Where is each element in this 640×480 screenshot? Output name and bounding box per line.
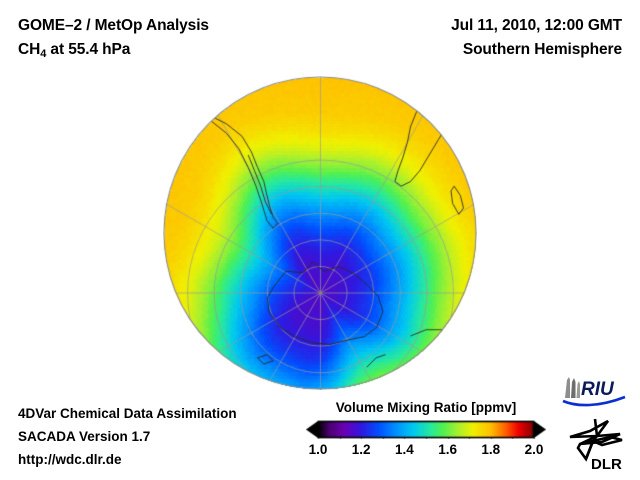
dlr-logo: DLR	[564, 415, 628, 473]
species-suffix: at 55.4 hPa	[46, 41, 130, 58]
footer-left-block: 4DVar Chemical Data Assimilation SACADA …	[18, 402, 237, 471]
colorbar-gradient-row	[306, 420, 546, 439]
colorbar: Volume Mixing Ratio [ppmv] 1.01.21.41.61…	[306, 400, 546, 460]
colorbar-tick-1-2: 1.2	[352, 442, 371, 457]
colorbar-tick-2-0: 2.0	[525, 442, 544, 457]
version-label: SACADA Version 1.7	[18, 425, 237, 448]
instrument-title: GOME–2 / MetOp Analysis	[18, 14, 209, 38]
species-level-title: CH4 at 55.4 hPa	[18, 38, 209, 66]
polar-map-canvas	[163, 76, 477, 390]
riu-logo: RIU	[559, 374, 629, 408]
colorbar-tick-1-8: 1.8	[481, 442, 500, 457]
colorbar-tick-1-0: 1.0	[309, 442, 328, 457]
riu-logo-mark: RIU	[559, 374, 629, 408]
species-prefix: CH	[18, 41, 40, 58]
colorbar-gradient	[306, 420, 546, 439]
dlr-pinwheel-icon	[570, 419, 622, 459]
riu-wordmark: RIU	[581, 379, 615, 400]
website-link[interactable]: http://wdc.dlr.de	[18, 448, 237, 471]
dlr-wordmark: DLR	[591, 456, 622, 473]
method-label: 4DVar Chemical Data Assimilation	[18, 402, 237, 425]
colorbar-tick-1-6: 1.6	[438, 442, 457, 457]
polar-map	[163, 76, 477, 390]
region-label: Southern Hemisphere	[451, 38, 622, 62]
riu-towers-icon	[565, 377, 580, 398]
colorbar-title: Volume Mixing Ratio [ppmv]	[306, 400, 546, 415]
colorbar-tick-labels: 1.01.21.41.61.82.0	[306, 442, 546, 460]
colorbar-tick-1-4: 1.4	[395, 442, 414, 457]
header-left-block: GOME–2 / MetOp Analysis CH4 at 55.4 hPa	[18, 14, 209, 66]
dlr-logo-mark: DLR	[564, 415, 628, 473]
datetime-label: Jul 11, 2010, 12:00 GMT	[451, 14, 622, 38]
header-right-block: Jul 11, 2010, 12:00 GMT Southern Hemisph…	[451, 14, 622, 62]
